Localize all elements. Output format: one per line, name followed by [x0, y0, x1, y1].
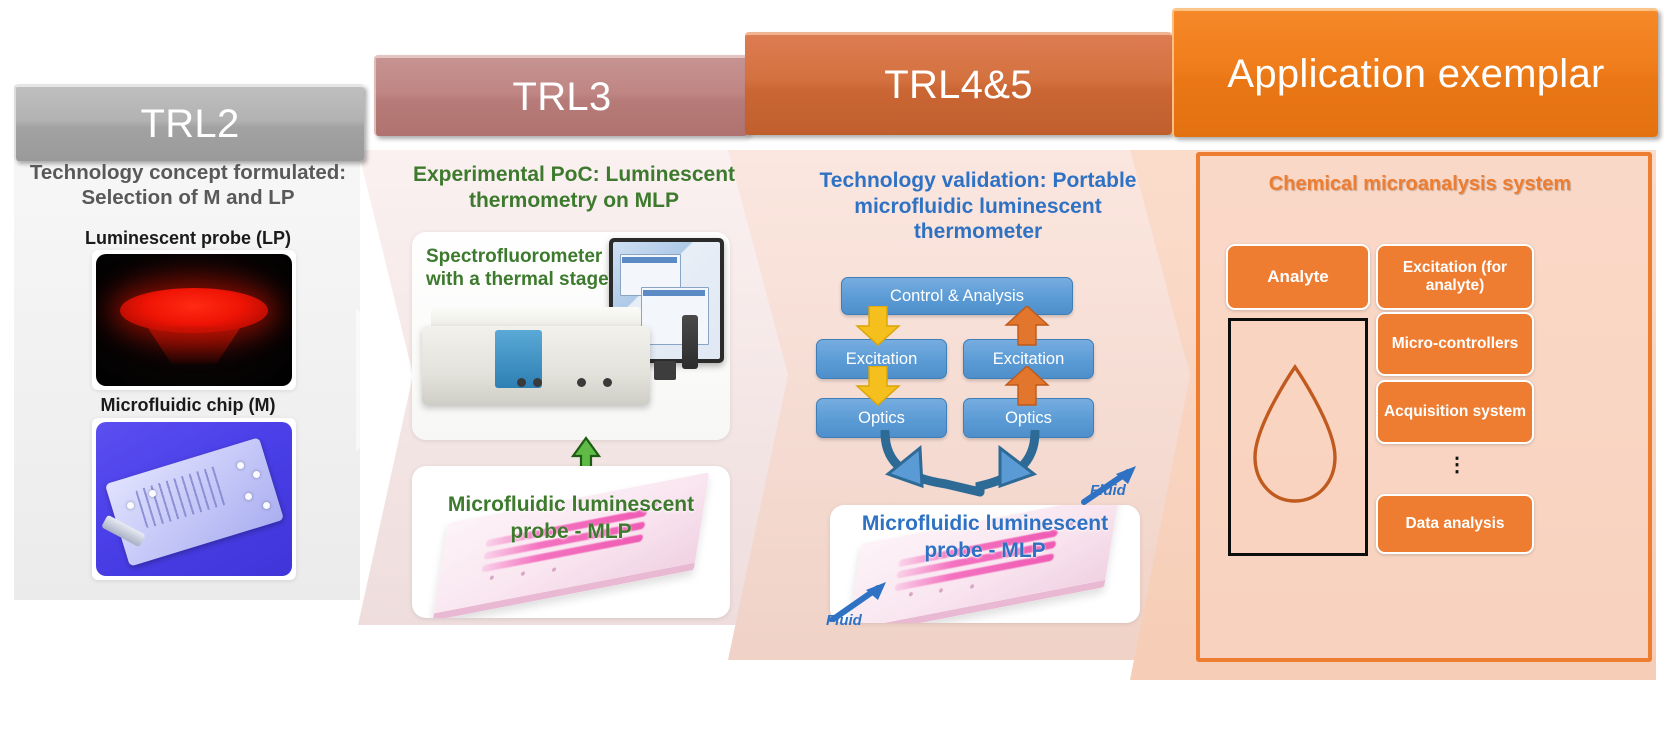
chip-port: [149, 490, 156, 497]
chip-port: [245, 493, 252, 500]
microfluidic-chip-photo: [96, 422, 292, 576]
photo-label-microfluidic-chip: Microfluidic chip (M): [18, 395, 358, 416]
header-label-trl3: TRL3: [376, 76, 748, 118]
box-label: Analyte: [1267, 267, 1328, 287]
red-glow-dish: [120, 288, 269, 333]
diagram-canvas: TRL2 TRL3 TRL4&5 Application exemplar Te…: [0, 0, 1664, 732]
box-label: Data analysis: [1405, 515, 1504, 533]
box-label: Micro-controllers: [1392, 335, 1519, 353]
box-label: Acquisition system: [1384, 403, 1526, 421]
photo-luminescent-probe: [92, 250, 296, 390]
ellipsis-indicator: ⋮: [1447, 452, 1469, 477]
header-plaque-application[interactable]: Application exemplar: [1172, 8, 1658, 137]
detector-arm: [682, 315, 698, 369]
sample-chamber-frame: [1228, 318, 1368, 556]
caption-trl45: Technology validation: Portable microflu…: [790, 168, 1166, 245]
panel-label-spectrofluorometer: Spectrofluorometer with a thermal stage: [426, 246, 616, 292]
header-plaque-trl2[interactable]: TRL2: [14, 84, 364, 161]
header-label-application: Application exemplar: [1174, 53, 1658, 95]
box-acquisition-system[interactable]: Acquisition system: [1376, 380, 1534, 444]
header-label-trl2: TRL2: [16, 103, 364, 145]
header-label-trl45: TRL4&5: [745, 64, 1172, 106]
dish-base: [147, 327, 241, 364]
caption-trl2: Technology concept formulated: Selection…: [18, 160, 358, 210]
panel-label-mlp-trl3: Microfluidic luminescent probe - MLP: [430, 492, 712, 546]
panel-mlp-trl3: Microfluidic luminescent probe - MLP: [412, 466, 730, 618]
chip-port: [263, 502, 270, 509]
fluid-label-inlet: Fluid: [826, 612, 862, 629]
block-label: Optics: [858, 409, 905, 428]
caption-application: Chemical microanalysis system: [1206, 172, 1634, 196]
monitor-stand: [654, 361, 676, 380]
box-analyte[interactable]: Analyte: [1226, 244, 1370, 310]
box-microcontrollers[interactable]: Micro-controllers: [1376, 312, 1534, 376]
chevron-connector-trl2-trl3: [352, 300, 424, 460]
arrow-up-orange-icon: [1004, 366, 1050, 406]
header-plaque-trl3[interactable]: TRL3: [374, 55, 748, 136]
arrow-down-yellow-icon: [855, 366, 901, 406]
arrow-up-orange-icon: [1004, 306, 1050, 346]
panel-label-mlp-trl45: Microfluidic luminescent probe - MLP: [844, 510, 1126, 565]
caption-trl3: Experimental PoC: Luminescent thermometr…: [404, 162, 744, 213]
photo-label-luminescent-probe: Luminescent probe (LP): [18, 228, 358, 249]
box-excitation-for-analyte[interactable]: Excitation (for analyte): [1376, 244, 1534, 310]
fluid-label-outlet: Fluid: [1090, 482, 1126, 499]
liquid-droplet-icon: [1231, 321, 1359, 547]
box-data-analysis[interactable]: Data analysis: [1376, 494, 1534, 554]
block-label: Control & Analysis: [890, 287, 1024, 306]
photo-microfluidic-chip: [92, 418, 296, 580]
arrow-down-yellow-icon: [855, 306, 901, 346]
header-plaque-trl45[interactable]: TRL4&5: [745, 32, 1172, 135]
box-label: Excitation (for analyte): [1378, 259, 1532, 296]
block-label: Optics: [1005, 409, 1052, 428]
luminescent-powder-photo: [96, 254, 292, 386]
panel-spectrofluorometer: Spectrofluorometer with a thermal stage: [412, 232, 730, 440]
